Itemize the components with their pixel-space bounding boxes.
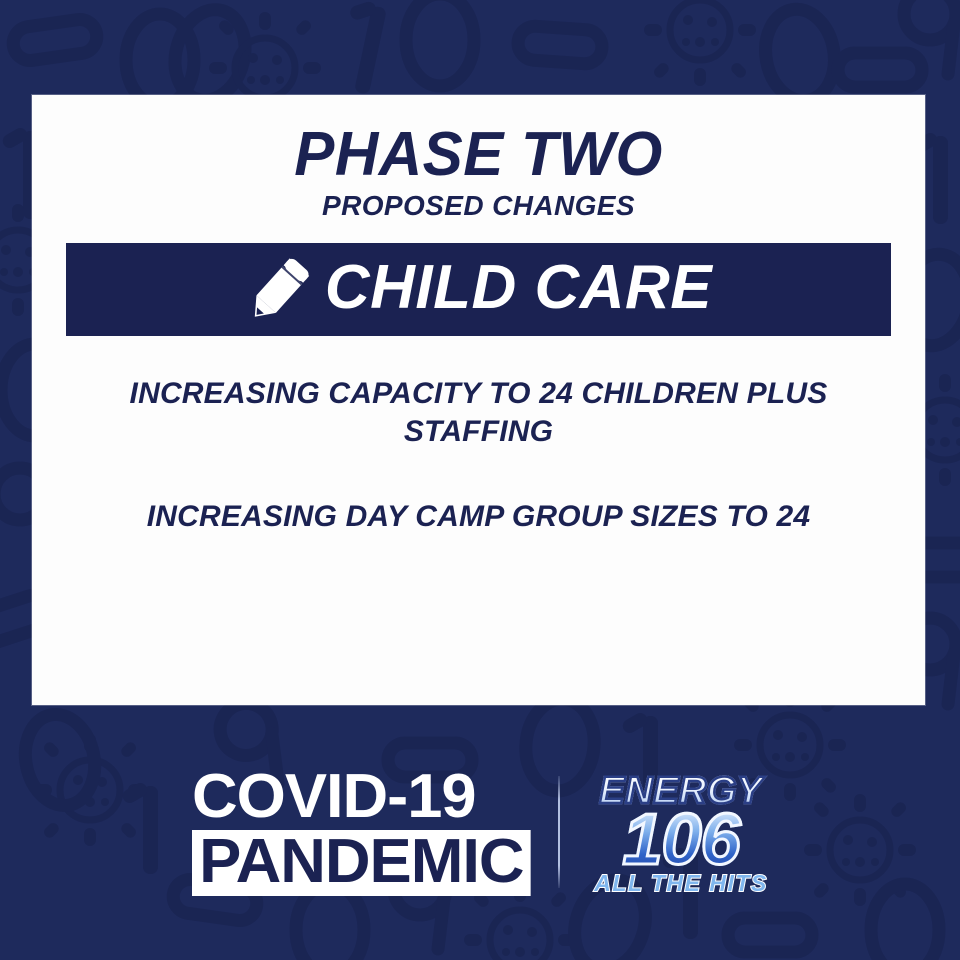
page-title: PHASE TWO — [45, 123, 911, 186]
body-line: INCREASING CAPACITY TO 24 CHILDREN PLUS … — [72, 375, 885, 452]
footer-divider — [558, 776, 560, 888]
pandemic-text: PANDEMIC — [192, 830, 531, 896]
energy-106-logo: ENERGY 106 ALL THE HITS — [594, 770, 767, 895]
category-banner: CHILD CARE — [66, 243, 891, 336]
covid-19-pandemic-logo: COVID-19 PANDEMIC — [192, 768, 524, 895]
energy-frequency: 106 — [594, 804, 767, 876]
content-card: PHASE TWO PROPOSED CHANGES — [32, 95, 925, 705]
covid-19-text: COVID-19 — [192, 768, 531, 826]
body-copy: INCREASING CAPACITY TO 24 CHILDREN PLUS … — [72, 375, 885, 536]
headline-block: PHASE TWO PROPOSED CHANGES — [32, 95, 925, 222]
page-subtitle: PROPOSED CHANGES — [32, 190, 925, 222]
body-line: INCREASING DAY CAMP GROUP SIZES TO 24 — [72, 498, 885, 536]
banner-label: CHILD CARE — [325, 257, 712, 319]
footer-logos: COVID-19 PANDEMIC ENERGY 106 ALL THE HIT… — [0, 762, 960, 902]
pencil-icon — [245, 255, 311, 327]
energy-tagline: ALL THE HITS — [594, 872, 767, 895]
phase-two-child-care-poster: PHASE TWO PROPOSED CHANGES — [0, 0, 960, 960]
